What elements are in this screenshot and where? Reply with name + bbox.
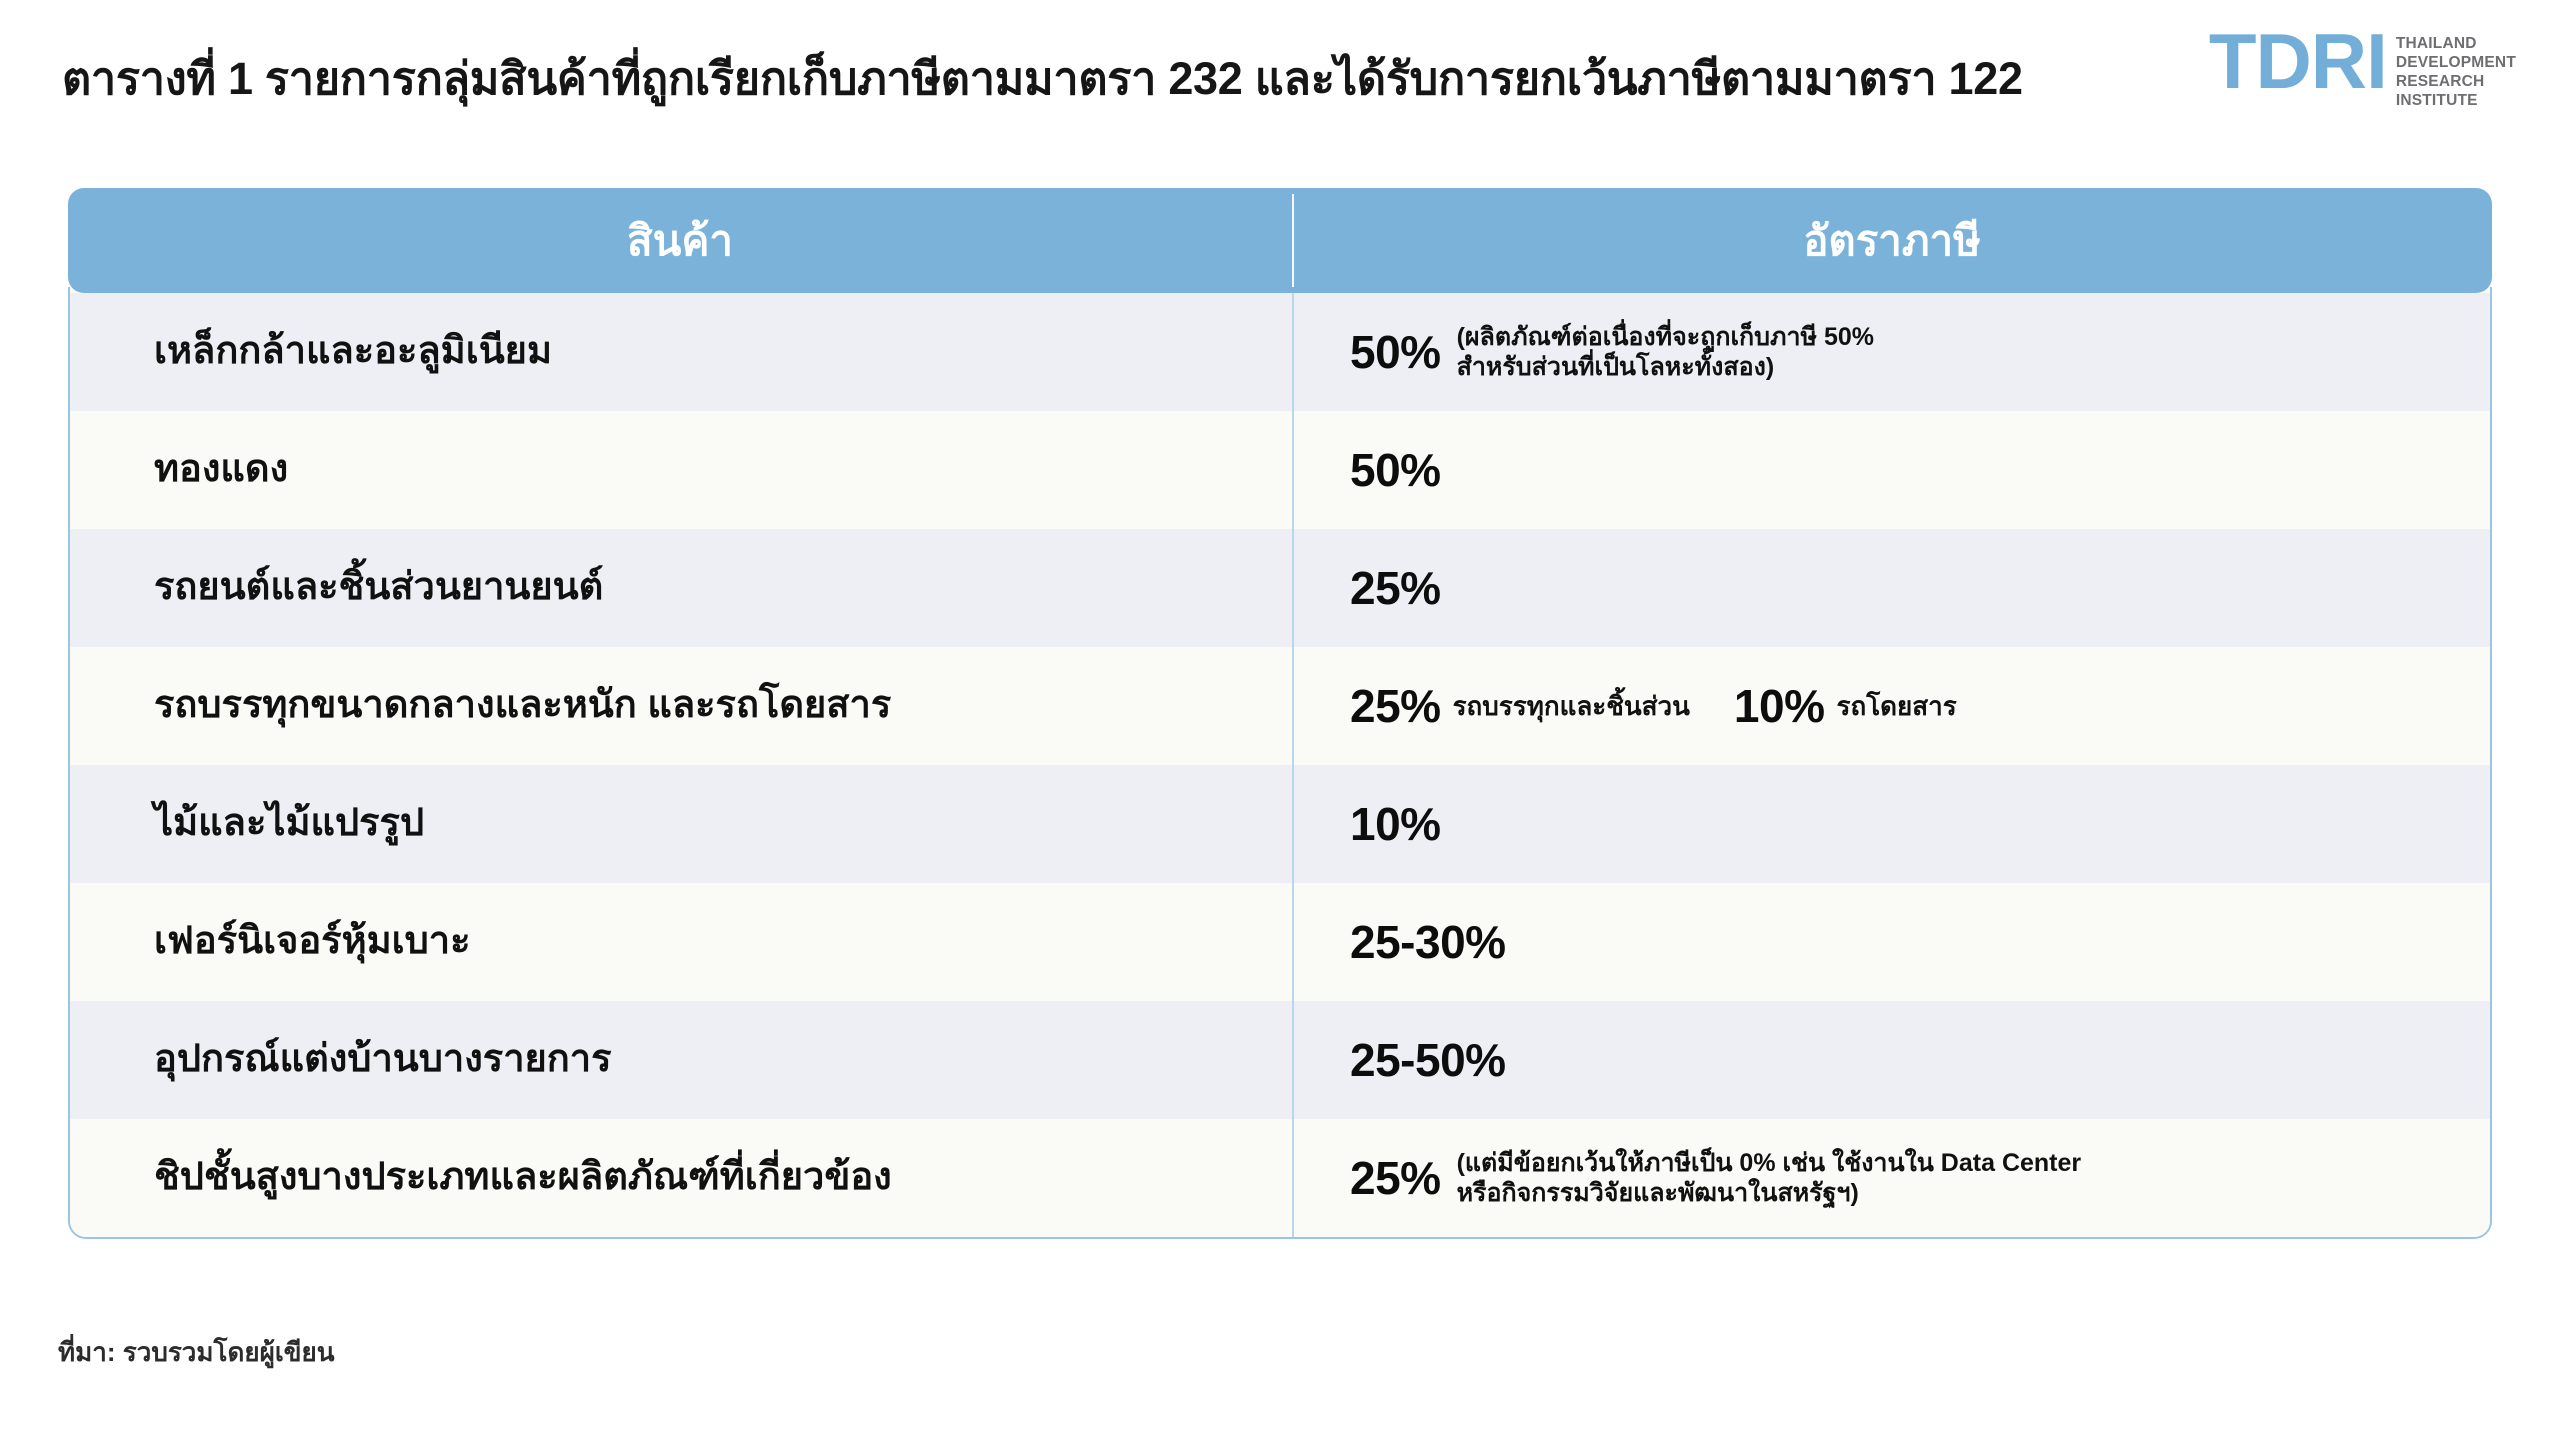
tax-rate-value: 50% bbox=[1350, 443, 1441, 497]
cell-goods: ทองแดง bbox=[70, 436, 1294, 504]
cell-tax-rate: 25%(แต่มีข้อยกเว้นให้ภาษีเป็น 0% เช่น ใช… bbox=[1294, 1138, 2490, 1219]
cell-tax-rate: 10% bbox=[1294, 787, 2490, 861]
cell-tax-rate: 50%(ผลิตภัณฑ์ต่อเนื่องที่จะถูกเก็บภาษี 5… bbox=[1294, 312, 2490, 393]
tax-rate-note: (แต่มีข้อยกเว้นให้ภาษีเป็น 0% เช่น ใช้งา… bbox=[1457, 1148, 2082, 1209]
tdri-logo-line-3: RESEARCH bbox=[2396, 73, 2516, 92]
cell-goods: เหล็กกล้าและอะลูมิเนียม bbox=[70, 318, 1294, 386]
table-row: อุปกรณ์แต่งบ้านบางรายการ25-50% bbox=[70, 1001, 2490, 1119]
header-column-divider bbox=[1292, 194, 1294, 287]
source-note: ที่มา: รวบรวมโดยผู้เขียน bbox=[58, 1332, 335, 1373]
table-row: เฟอร์นิเจอร์หุ้มเบาะ25-30% bbox=[70, 883, 2490, 1001]
cell-tax-rate: 25% bbox=[1294, 551, 2490, 625]
tax-rate-value: 25% bbox=[1350, 561, 1441, 615]
cell-tax-rate: 25-50% bbox=[1294, 1023, 2490, 1097]
table-row: เหล็กกล้าและอะลูมิเนียม50%(ผลิตภัณฑ์ต่อเ… bbox=[70, 293, 2490, 411]
tax-rate-value: 25-30% bbox=[1350, 915, 1506, 969]
cell-goods: ชิปชั้นสูงบางประเภทและผลิตภัณฑ์ที่เกี่ยว… bbox=[70, 1144, 1294, 1212]
tax-rate-label-secondary: รถโดยสาร bbox=[1837, 686, 1957, 727]
table-row: ชิปชั้นสูงบางประเภทและผลิตภัณฑ์ที่เกี่ยว… bbox=[70, 1119, 2490, 1237]
table-row: รถยนต์และชิ้นส่วนยานยนต์25% bbox=[70, 529, 2490, 647]
tax-rate-value: 25% bbox=[1350, 1151, 1441, 1205]
page-header: ตารางที่ 1 รายการกลุ่มสินค้าที่ถูกเรียกเ… bbox=[0, 0, 2560, 185]
tdri-logo-line-2: DEVELOPMENT bbox=[2396, 54, 2516, 73]
cell-goods: รถยนต์และชิ้นส่วนยานยนต์ bbox=[70, 554, 1294, 622]
column-header-goods: สินค้า bbox=[68, 188, 1292, 293]
cell-tax-rate: 25-30% bbox=[1294, 905, 2490, 979]
tdri-logo: TDRI THAILAND DEVELOPMENT RESEARCH INSTI… bbox=[2209, 30, 2516, 111]
cell-tax-rate: 25%รถบรรทุกและชิ้นส่วน10%รถโดยสาร bbox=[1294, 669, 2490, 743]
tdri-logo-line-4: INSTITUTE bbox=[2396, 92, 2516, 111]
cell-goods: เฟอร์นิเจอร์หุ้มเบาะ bbox=[70, 908, 1294, 976]
table-header-row: สินค้า อัตราภาษี bbox=[68, 188, 2492, 293]
tdri-logo-words: THAILAND DEVELOPMENT RESEARCH INSTITUTE bbox=[2396, 35, 2516, 111]
tdri-logo-line-1: THAILAND bbox=[2396, 35, 2516, 54]
cell-goods: รถบรรทุกขนาดกลางและหนัก และรถโดยสาร bbox=[70, 672, 1294, 740]
tax-rate-value: 25% bbox=[1350, 679, 1441, 733]
column-header-tax-rate: อัตราภาษี bbox=[1292, 188, 2492, 293]
cell-goods: ไม้และไม้แปรรูป bbox=[70, 790, 1294, 858]
table-body: เหล็กกล้าและอะลูมิเนียม50%(ผลิตภัณฑ์ต่อเ… bbox=[68, 287, 2492, 1239]
tax-rate-value: 25-50% bbox=[1350, 1033, 1506, 1087]
tax-rate-value: 50% bbox=[1350, 325, 1441, 379]
table-row: ไม้และไม้แปรรูป10% bbox=[70, 765, 2490, 883]
tdri-logo-mark: TDRI bbox=[2209, 30, 2387, 94]
tax-rate-value: 10% bbox=[1350, 797, 1441, 851]
tariff-table: สินค้า อัตราภาษี เหล็กกล้าและอะลูมิเนียม… bbox=[68, 188, 2492, 1239]
table-row: รถบรรทุกขนาดกลางและหนัก และรถโดยสาร25%รถ… bbox=[70, 647, 2490, 765]
tax-rate-label: รถบรรทุกและชิ้นส่วน bbox=[1453, 686, 1690, 727]
tax-rate-note: (ผลิตภัณฑ์ต่อเนื่องที่จะถูกเก็บภาษี 50%ส… bbox=[1457, 322, 1874, 383]
cell-tax-rate: 50% bbox=[1294, 433, 2490, 507]
tax-rate-value-secondary: 10% bbox=[1734, 679, 1825, 733]
table-row: ทองแดง50% bbox=[70, 411, 2490, 529]
cell-goods: อุปกรณ์แต่งบ้านบางรายการ bbox=[70, 1026, 1294, 1094]
page-title: ตารางที่ 1 รายการกลุ่มสินค้าที่ถูกเรียกเ… bbox=[62, 52, 2023, 106]
